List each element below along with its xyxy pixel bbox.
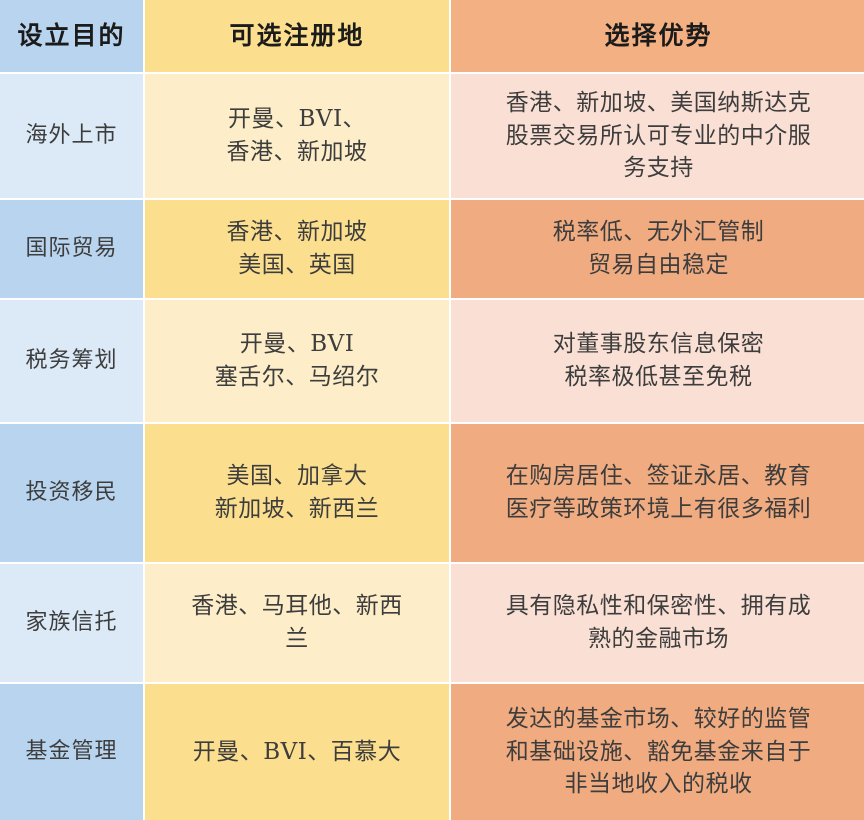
cell-locations-text: 开曼、BVI、百慕大 bbox=[153, 736, 441, 769]
cell-purpose: 税务筹划 bbox=[0, 300, 143, 422]
cell-locations-text: 香港、新加坡 美国、英国 bbox=[153, 216, 441, 281]
cell-advantage-text: 对董事股东信息保密 税率极低甚至免税 bbox=[459, 328, 858, 393]
cell-purpose: 国际贸易 bbox=[0, 200, 143, 298]
cell-locations: 开曼、BVI 塞舌尔、马绍尔 bbox=[145, 300, 449, 422]
cell-advantage-text: 具有隐私性和保密性、拥有成 熟的金融市场 bbox=[459, 590, 858, 655]
cell-purpose: 投资移民 bbox=[0, 424, 143, 562]
cell-purpose-text: 税务筹划 bbox=[8, 345, 135, 376]
table-header-row: 设立目的 可选注册地 选择优势 bbox=[0, 0, 864, 72]
column-header-advantage: 选择优势 bbox=[451, 0, 864, 72]
cell-advantage: 税率低、无外汇管制 贸易自由稳定 bbox=[451, 200, 864, 298]
cell-purpose-text: 基金管理 bbox=[8, 736, 135, 767]
cell-purpose: 家族信托 bbox=[0, 564, 143, 682]
cell-locations: 美国、加拿大 新加坡、新西兰 bbox=[145, 424, 449, 562]
cell-locations-text: 美国、加拿大 新加坡、新西兰 bbox=[153, 460, 441, 525]
cell-advantage: 在购房居住、签证永居、教育 医疗等政策环境上有很多福利 bbox=[451, 424, 864, 562]
column-header-locations: 可选注册地 bbox=[145, 0, 449, 72]
cell-advantage: 具有隐私性和保密性、拥有成 熟的金融市场 bbox=[451, 564, 864, 682]
cell-locations: 香港、马耳他、新西 兰 bbox=[145, 564, 449, 682]
cell-purpose-text: 投资移民 bbox=[8, 477, 135, 508]
cell-purpose-text: 海外上市 bbox=[8, 120, 135, 151]
column-header-purpose-label: 设立目的 bbox=[8, 18, 135, 54]
cell-locations-text: 开曼、BVI 塞舌尔、马绍尔 bbox=[153, 328, 441, 393]
cell-purpose: 基金管理 bbox=[0, 684, 143, 820]
table-row: 税务筹划 开曼、BVI 塞舌尔、马绍尔 对董事股东信息保密 税率极低甚至免税 bbox=[0, 300, 864, 422]
table-row: 国际贸易 香港、新加坡 美国、英国 税率低、无外汇管制 贸易自由稳定 bbox=[0, 200, 864, 298]
table-row: 海外上市 开曼、BVI、 香港、新加坡 香港、新加坡、美国纳斯达克 股票交易所认… bbox=[0, 74, 864, 198]
cell-advantage-text: 发达的基金市场、较好的监管 和基础设施、豁免基金来自于 非当地收入的税收 bbox=[459, 703, 858, 801]
cell-locations: 开曼、BVI、 香港、新加坡 bbox=[145, 74, 449, 198]
cell-advantage: 对董事股东信息保密 税率极低甚至免税 bbox=[451, 300, 864, 422]
column-header-advantage-label: 选择优势 bbox=[459, 18, 858, 54]
cell-advantage: 发达的基金市场、较好的监管 和基础设施、豁免基金来自于 非当地收入的税收 bbox=[451, 684, 864, 820]
table-row: 投资移民 美国、加拿大 新加坡、新西兰 在购房居住、签证永居、教育 医疗等政策环… bbox=[0, 424, 864, 562]
cell-purpose-text: 国际贸易 bbox=[8, 233, 135, 264]
cell-advantage-text: 香港、新加坡、美国纳斯达克 股票交易所认可专业的中介服 务支持 bbox=[459, 87, 858, 185]
cell-purpose-text: 家族信托 bbox=[8, 607, 135, 638]
cell-locations: 香港、新加坡 美国、英国 bbox=[145, 200, 449, 298]
cell-purpose: 海外上市 bbox=[0, 74, 143, 198]
cell-advantage-text: 在购房居住、签证永居、教育 医疗等政策环境上有很多福利 bbox=[459, 460, 858, 525]
offshore-registration-table: 设立目的 可选注册地 选择优势 海外上市 开曼、BVI、 香港、新加坡 香港、新… bbox=[0, 0, 864, 816]
cell-locations-text: 香港、马耳他、新西 兰 bbox=[153, 590, 441, 655]
table-row: 基金管理 开曼、BVI、百慕大 发达的基金市场、较好的监管 和基础设施、豁免基金… bbox=[0, 684, 864, 820]
cell-locations-text: 开曼、BVI、 香港、新加坡 bbox=[153, 103, 441, 168]
cell-advantage: 香港、新加坡、美国纳斯达克 股票交易所认可专业的中介服 务支持 bbox=[451, 74, 864, 198]
cell-locations: 开曼、BVI、百慕大 bbox=[145, 684, 449, 820]
column-header-locations-label: 可选注册地 bbox=[153, 18, 441, 54]
cell-advantage-text: 税率低、无外汇管制 贸易自由稳定 bbox=[459, 216, 858, 281]
column-header-purpose: 设立目的 bbox=[0, 0, 143, 72]
table-row: 家族信托 香港、马耳他、新西 兰 具有隐私性和保密性、拥有成 熟的金融市场 bbox=[0, 564, 864, 682]
